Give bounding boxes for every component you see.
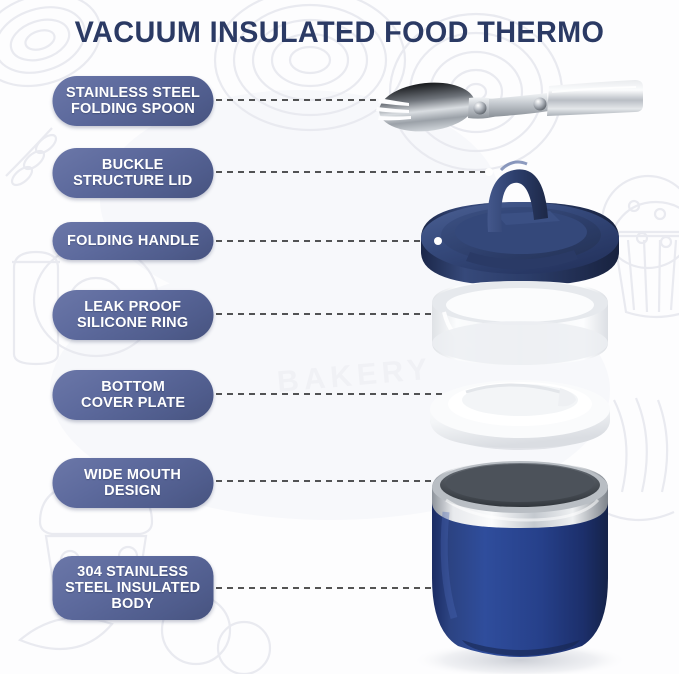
- label-line: BOTTOM: [81, 379, 185, 395]
- label-line: LEAK PROOF: [77, 299, 188, 315]
- label-line: STRUCTURE LID: [73, 173, 192, 189]
- callout-dot-lid: [434, 237, 442, 245]
- label-wide-mouth-design[interactable]: WIDE MOUTH DESIGN: [52, 458, 213, 508]
- label-line: FOLDING HANDLE: [67, 233, 199, 249]
- bottom-cover-plate: [430, 380, 610, 450]
- watermark-bakery-text: BAKERY: [276, 353, 434, 399]
- label-line: SILICONE RING: [77, 315, 188, 331]
- label-line: BUCKLE: [73, 157, 192, 173]
- watermark-cookie-icon: [602, 176, 679, 268]
- label-line: 304 STAINLESS: [65, 564, 200, 580]
- label-bottom-cover-plate[interactable]: BOTTOM COVER PLATE: [52, 370, 213, 420]
- label-buckle-structure-lid[interactable]: BUCKLE STRUCTURE LID: [52, 148, 213, 198]
- label-line: STAINLESS STEEL: [66, 85, 200, 101]
- wide-mouth-opening: [432, 461, 608, 513]
- label-stainless-steel-folding-spoon[interactable]: STAINLESS STEEL FOLDING SPOON: [52, 76, 213, 126]
- watermark-wheat-icon: [6, 128, 59, 188]
- label-leak-proof-silicone-ring[interactable]: LEAK PROOF SILICONE RING: [52, 290, 213, 340]
- watermark-croissant-icon: [20, 618, 112, 649]
- callout-dot-handle: [485, 168, 493, 176]
- label-line: COVER PLATE: [81, 395, 185, 411]
- watermark-cupcake-icon: [612, 202, 679, 317]
- label-folding-handle[interactable]: FOLDING HANDLE: [52, 222, 213, 260]
- watermark-whisk-icon: [604, 398, 674, 520]
- leak-proof-silicone-ring: [432, 281, 608, 365]
- label-line: STEEL INSULATED: [65, 580, 200, 596]
- folding-handle: [488, 162, 548, 232]
- folding-spork: [376, 78, 643, 136]
- page-title: VACUUM INSULATED FOOD THERMO: [14, 16, 666, 50]
- 304-stainless-steel-insulated-body: [412, 461, 628, 674]
- label-line: DESIGN: [85, 483, 182, 499]
- infographic-page: BAKERY VACUUM INSULATED FOOD THERMO: [0, 0, 679, 674]
- label-line: BODY: [65, 596, 200, 612]
- label-304-stainless-steel-insulated-body[interactable]: 304 STAINLESS STEEL INSULATED BODY: [52, 556, 213, 620]
- buckle-structure-lid: [421, 162, 619, 286]
- label-line: WIDE MOUTH: [85, 467, 182, 483]
- label-line: FOLDING SPOON: [66, 101, 200, 117]
